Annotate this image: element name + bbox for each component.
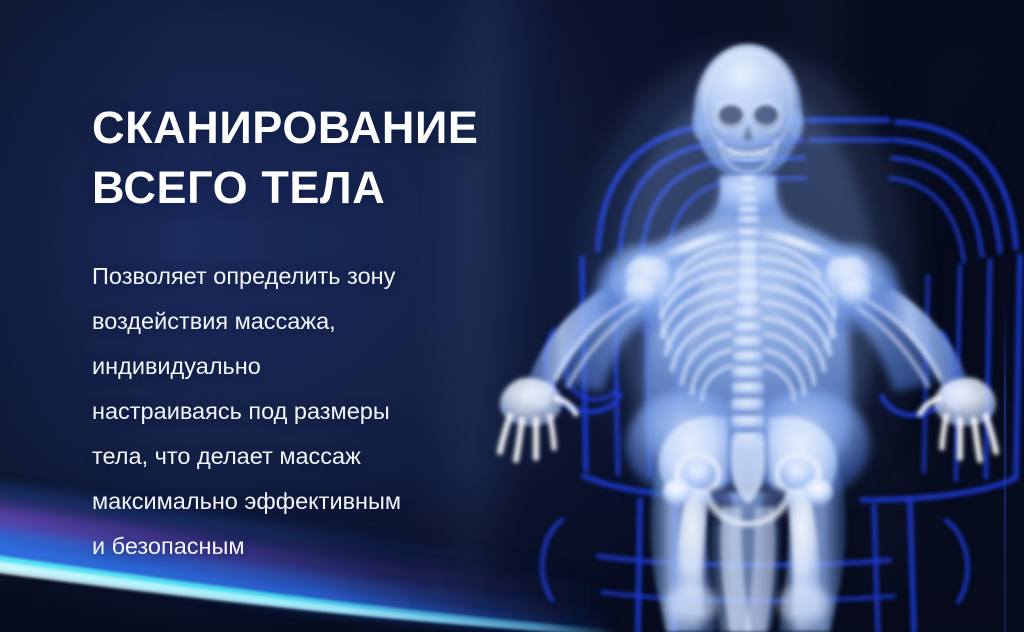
figure-bloom xyxy=(618,85,878,515)
page-title: СКАНИРОВАНИЕ ВСЕГО ТЕЛА xyxy=(92,98,512,218)
promo-banner: СКАНИРОВАНИЕ ВСЕГО ТЕЛА Позволяет опреде… xyxy=(0,0,1024,632)
text-block: СКАНИРОВАНИЕ ВСЕГО ТЕЛА Позволяет опреде… xyxy=(92,98,512,569)
xray-skeleton-figure xyxy=(470,0,1024,632)
description-text: Позволяет определить зону воздействия ма… xyxy=(92,254,512,569)
